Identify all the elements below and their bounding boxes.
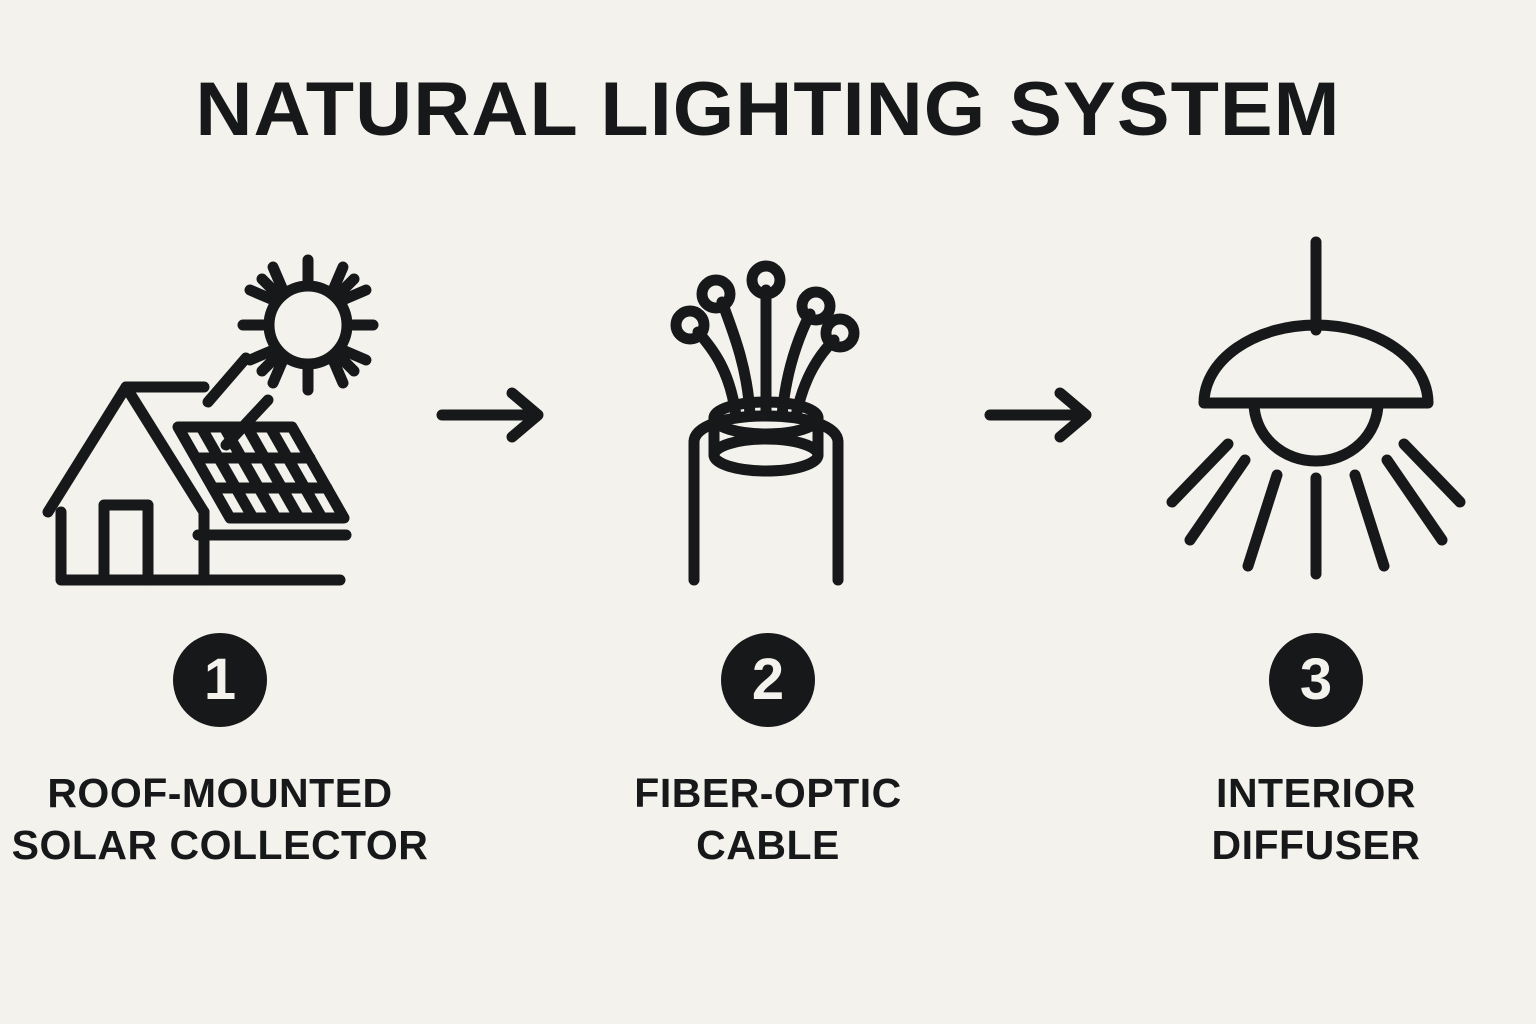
interior-diffuser-icon <box>1166 230 1466 600</box>
step-caption-line-2: DIFFUSER <box>1212 819 1421 871</box>
step-caption: ROOF-MOUNTED SOLAR COLLECTOR <box>12 767 429 872</box>
step-caption: FIBER-OPTIC CABLE <box>634 767 901 872</box>
step-2-icon-box <box>558 215 978 615</box>
process-steps: 1 ROOF-MOUNTED SOLAR COLLECTOR <box>0 215 1536 915</box>
right-arrow-icon <box>434 385 554 445</box>
fiber-optic-cable-icon <box>638 230 898 600</box>
step-3-icon-box <box>1106 215 1526 615</box>
step-caption: INTERIOR DIFFUSER <box>1212 767 1421 872</box>
step-caption-line-2: CABLE <box>634 819 901 871</box>
arrow-step1-to-step2-wrap <box>430 215 558 615</box>
roof-solar-collector-icon <box>30 230 410 600</box>
page-title: NATURAL LIGHTING SYSTEM <box>0 72 1536 148</box>
step-number-badge: 1 <box>173 633 267 727</box>
step-number-badge: 2 <box>721 633 815 727</box>
step-caption-line-1: FIBER-OPTIC <box>634 767 901 819</box>
step-interior-diffuser: 3 INTERIOR DIFFUSER <box>1106 215 1526 872</box>
step-number-badge: 3 <box>1269 633 1363 727</box>
step-caption-line-1: INTERIOR <box>1212 767 1421 819</box>
step-caption-line-1: ROOF-MOUNTED <box>12 767 429 819</box>
step-1-icon-box <box>10 215 430 615</box>
step-fiber-optic-cable: 2 FIBER-OPTIC CABLE <box>558 215 978 872</box>
step-roof-mounted-solar-collector: 1 ROOF-MOUNTED SOLAR COLLECTOR <box>10 215 430 872</box>
step-caption-line-2: SOLAR COLLECTOR <box>12 819 429 871</box>
infographic-canvas: NATURAL LIGHTING SYSTEM <box>0 0 1536 1024</box>
right-arrow-icon <box>982 385 1102 445</box>
arrow-step2-to-step3-wrap <box>978 215 1106 615</box>
